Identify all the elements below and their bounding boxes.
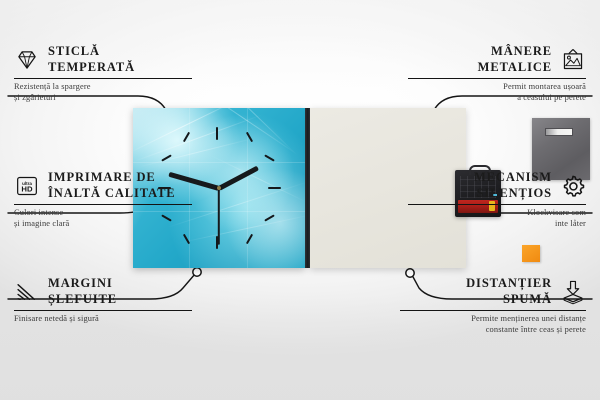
feature-subtitle: Permite menținerea unei distanțe constan… xyxy=(400,314,586,335)
feature-subtitle: Klockvisare som inte låter xyxy=(408,208,586,229)
picture-hanger-icon xyxy=(560,47,586,73)
feature-rule xyxy=(408,204,586,205)
feature-distantier-spuma: DISTANȚIER SPUMĂ Permite menținerea unei… xyxy=(400,276,586,336)
feature-subtitle: Culori intense și imagine clară xyxy=(14,208,192,229)
feature-subtitle: Permit montarea ușoară a ceasului pe per… xyxy=(408,82,586,103)
diamond-icon xyxy=(14,47,40,73)
feature-imprimare-inalta-calitate: ultra HD IMPRIMARE DE ÎNALTĂ CALITATE Cu… xyxy=(14,170,192,230)
feature-subtitle: Finisare netedă și sigură xyxy=(14,314,192,325)
clock-second-hand xyxy=(218,188,220,244)
feature-rule xyxy=(400,310,586,311)
feature-sticla-temperata: STICLĂ TEMPERATĂ Rezistență la spargere … xyxy=(14,44,192,104)
feature-title: DISTANȚIER SPUMĂ xyxy=(400,276,552,307)
infographic-canvas: STICLĂ TEMPERATĂ Rezistență la spargere … xyxy=(0,0,600,400)
feature-rule xyxy=(14,204,192,205)
feature-title: IMPRIMARE DE ÎNALTĂ CALITATE xyxy=(48,170,176,201)
polished-edge-icon xyxy=(14,279,40,305)
feature-subtitle: Rezistență la spargere și zgârieturi xyxy=(14,82,192,103)
foam-spacer-pad xyxy=(522,245,540,262)
feature-title: MÂNERE METALICE xyxy=(408,44,552,75)
clock-tick xyxy=(216,127,218,140)
feature-rule xyxy=(408,78,586,79)
hanger-slot xyxy=(545,128,573,136)
feature-mecanism-silentios: MECANISM SILENȚIOS Klockvisare som inte … xyxy=(408,170,586,230)
press-down-pad-icon xyxy=(560,279,586,305)
feature-manere-metalice: MÂNERE METALICE Permit montarea ușoară a… xyxy=(408,44,586,104)
svg-text:HD: HD xyxy=(21,184,33,193)
feature-title: STICLĂ TEMPERATĂ xyxy=(48,44,135,75)
feature-title: MARGINI ȘLEFUITE xyxy=(48,276,117,307)
feature-title: MECANISM SILENȚIOS xyxy=(408,170,552,201)
feature-rule xyxy=(14,310,192,311)
feature-rule xyxy=(14,78,192,79)
connector-endpoint-margini xyxy=(193,268,201,276)
clock-tick xyxy=(268,187,281,189)
gear-icon xyxy=(560,173,586,199)
ultra-hd-icon: ultra HD xyxy=(14,173,40,199)
clock-center-pin xyxy=(217,186,221,190)
feature-margini-slefuite: MARGINI ȘLEFUITE Finisare netedă și sigu… xyxy=(14,276,192,325)
